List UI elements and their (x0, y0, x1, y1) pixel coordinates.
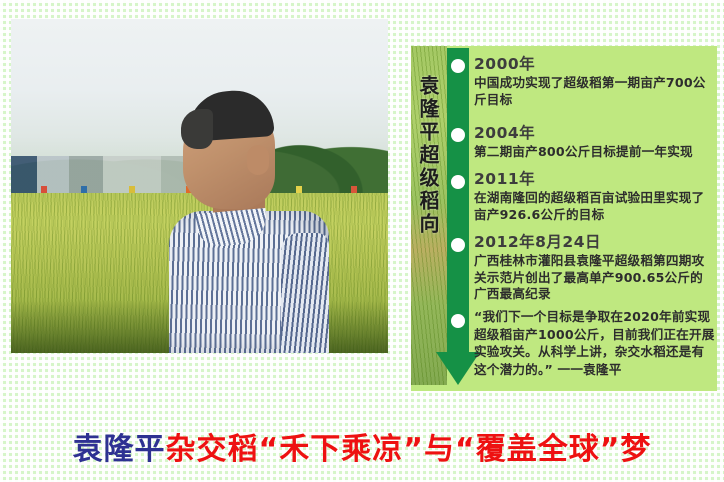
timeline-entry-2: 2004年 第二期亩产800公斤目标提前一年实现 (474, 124, 714, 161)
entry-body: 广西桂林市灌阳县袁隆平超级稻第四期攻关示范片创出了最高单产900.65公斤的广西… (474, 253, 714, 303)
slide-canvas: 袁隆平超级稻向 2000年 中国成功实现了超级稻第一期亩产700公斤目标 200… (0, 0, 724, 482)
person-ear (247, 145, 269, 175)
timeline-entry-4: 2012年8月24日 广西桂林市灌阳县袁隆平超级稻第四期攻关示范片创出了最高单产… (474, 233, 714, 303)
timeline-bullet-3 (451, 175, 465, 189)
slide-caption: 袁隆平杂交稻“禾下乘凉”与“覆盖全球”梦 (0, 424, 724, 468)
timeline-bullet-5 (451, 314, 465, 328)
photo-person (161, 83, 329, 353)
caption-rest: 杂交稻“禾下乘凉”与“覆盖全球”梦 (166, 432, 652, 467)
timeline-bullet-1 (451, 59, 465, 73)
entry-title: 2011年 (474, 170, 714, 189)
vertical-title: 袁隆平超级稻向 (411, 48, 445, 258)
rice-field-photo (11, 19, 388, 353)
entry-body: 第二期亩产800公斤目标提前一年实现 (474, 144, 714, 161)
timeline-entry-3: 2011年 在湖南隆回的超级稻百亩试验田里实现了亩产926.6公斤的目标 (474, 170, 714, 223)
caption-name: 袁隆平 (73, 432, 166, 467)
timeline-arrow-bar (447, 48, 469, 353)
entry-title: 2004年 (474, 124, 714, 143)
timeline-bullet-4 (451, 238, 465, 252)
entry-body: 在湖南隆回的超级稻百亩试验田里实现了亩产926.6公斤的目标 (474, 190, 714, 223)
entry-title: 2000年 (474, 55, 714, 74)
timeline-entry-1: 2000年 中国成功实现了超级稻第一期亩产700公斤目标 (474, 55, 714, 108)
timeline-bullet-2 (451, 128, 465, 142)
entry-body: 中国成功实现了超级稻第一期亩产700公斤目标 (474, 75, 714, 108)
person-hair-side (181, 109, 213, 149)
person-arm (281, 233, 329, 353)
timeline-quote: “我们下一个目标是争取在2020年前实现超级稻亩产1000公斤，目前我们正在开展… (474, 308, 716, 378)
entry-title: 2012年8月24日 (474, 233, 714, 252)
